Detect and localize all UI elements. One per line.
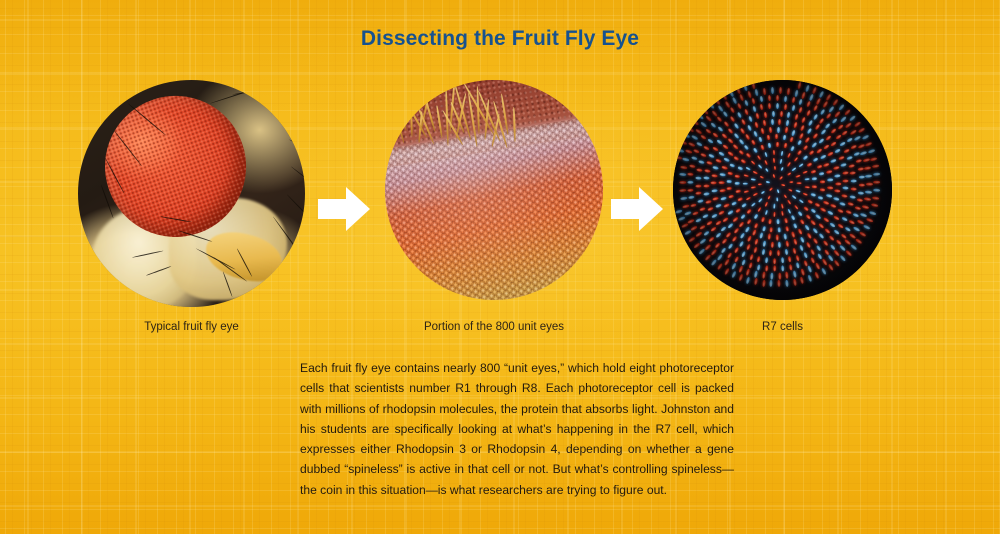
figure-fruit-fly-eye-image	[78, 80, 305, 307]
r7-vignette	[673, 80, 892, 300]
fly-bristles	[78, 80, 305, 307]
arrow-right-icon-2	[611, 186, 663, 232]
figure-r7-cells	[673, 80, 892, 300]
caption-fruit-fly-eye: Typical fruit fly eye	[78, 321, 305, 333]
arrow-right-icon-1	[318, 186, 370, 232]
infographic-page: Dissecting the Fruit Fly Eye	[0, 0, 1000, 534]
figure-unit-eyes	[385, 80, 603, 300]
ommatidia-shading	[385, 80, 603, 300]
figure-unit-eyes-image	[385, 80, 603, 300]
caption-r7-cells: R7 cells	[673, 321, 892, 333]
page-title: Dissecting the Fruit Fly Eye	[0, 27, 1000, 51]
figure-fruit-fly-eye	[78, 80, 305, 307]
caption-unit-eyes: Portion of the 800 unit eyes	[385, 321, 603, 333]
figure-r7-cells-image	[673, 80, 892, 300]
body-paragraph: Each fruit fly eye contains nearly 800 “…	[300, 358, 734, 500]
body-paragraph-block: Each fruit fly eye contains nearly 800 “…	[300, 358, 734, 500]
